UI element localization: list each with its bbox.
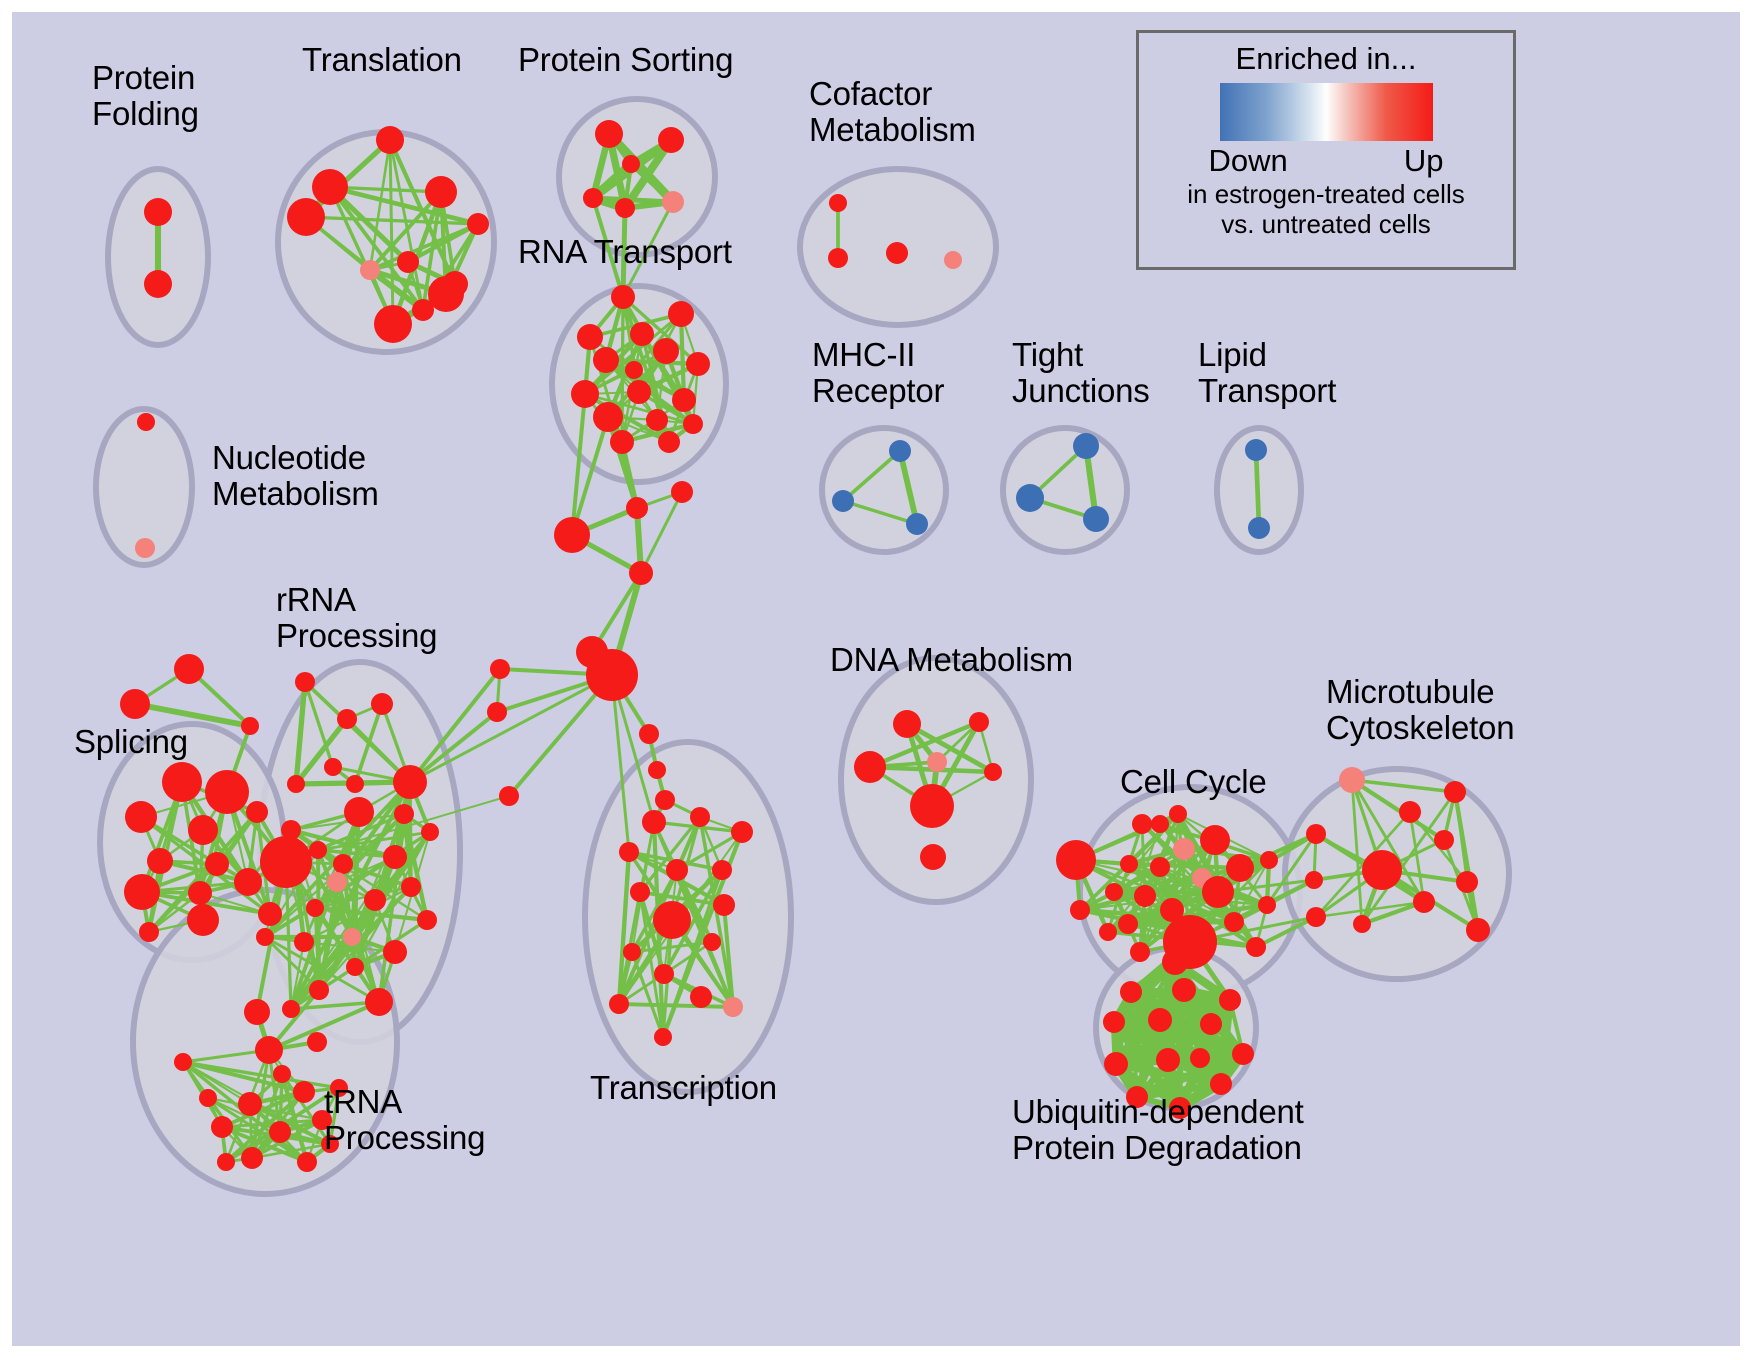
- network-node[interactable]: [653, 338, 679, 364]
- network-node[interactable]: [615, 198, 635, 218]
- network-node[interactable]: [653, 901, 691, 939]
- legend-title: Enriched in...: [1236, 41, 1417, 77]
- network-node[interactable]: [294, 932, 314, 952]
- figure-root: Protein FoldingTranslationProtein Sortin…: [0, 0, 1750, 1360]
- legend-endpoints: Down Up: [1209, 143, 1444, 179]
- network-node[interactable]: [1248, 517, 1270, 539]
- network-node[interactable]: [690, 986, 712, 1008]
- network-node[interactable]: [571, 380, 599, 408]
- legend-subtitle-line-1: in estrogen-treated cells: [1187, 180, 1464, 209]
- network-node[interactable]: [1150, 857, 1170, 877]
- network-node[interactable]: [467, 213, 489, 235]
- network-node[interactable]: [686, 352, 710, 376]
- network-node[interactable]: [333, 854, 353, 874]
- network-node[interactable]: [828, 248, 848, 268]
- network-node[interactable]: [205, 852, 229, 876]
- network-node[interactable]: [623, 943, 641, 961]
- network-node[interactable]: [273, 1065, 291, 1083]
- network-node[interactable]: [1118, 914, 1138, 934]
- network-canvas: Protein FoldingTranslationProtein Sortin…: [12, 12, 1740, 1346]
- network-edge: [410, 675, 612, 782]
- network-node[interactable]: [1162, 949, 1188, 975]
- network-node[interactable]: [889, 440, 911, 462]
- network-node[interactable]: [1245, 439, 1267, 461]
- network-node[interactable]: [832, 490, 854, 512]
- network-node[interactable]: [1202, 876, 1234, 908]
- network-node[interactable]: [1148, 1008, 1172, 1032]
- network-node[interactable]: [137, 413, 155, 431]
- network-node[interactable]: [327, 872, 347, 892]
- network-node[interactable]: [383, 845, 407, 869]
- network-node[interactable]: [255, 1036, 283, 1064]
- network-node[interactable]: [630, 882, 650, 902]
- network-node[interactable]: [1200, 1013, 1222, 1035]
- network-node[interactable]: [1246, 937, 1266, 957]
- network-node[interactable]: [490, 659, 510, 679]
- network-node[interactable]: [577, 324, 603, 350]
- network-node[interactable]: [654, 1028, 672, 1046]
- network-node[interactable]: [1099, 923, 1117, 941]
- cluster-label-nucleotide-metabolism: Nucleotide Metabolism: [212, 440, 379, 513]
- network-node[interactable]: [893, 710, 921, 738]
- network-node[interactable]: [238, 1092, 262, 1116]
- network-node[interactable]: [371, 693, 393, 715]
- legend-subtitle-line-2: vs. untreated cells: [1221, 210, 1431, 239]
- network-node[interactable]: [595, 120, 623, 148]
- cluster-label-rrna-processing: rRNA Processing: [276, 582, 437, 655]
- network-node[interactable]: [312, 169, 348, 205]
- network-node[interactable]: [234, 868, 262, 896]
- network-node[interactable]: [1103, 1011, 1125, 1033]
- network-node[interactable]: [1156, 1048, 1180, 1072]
- network-node[interactable]: [174, 1053, 192, 1071]
- network-node[interactable]: [639, 724, 659, 744]
- network-node[interactable]: [1190, 1048, 1210, 1068]
- network-node[interactable]: [188, 815, 218, 845]
- network-node[interactable]: [1134, 885, 1156, 907]
- network-node[interactable]: [906, 513, 928, 535]
- network-node[interactable]: [144, 198, 172, 226]
- network-node[interactable]: [627, 380, 651, 404]
- network-node[interactable]: [1132, 814, 1152, 834]
- cluster-label-protein-folding: Protein Folding: [92, 60, 199, 133]
- network-node[interactable]: [174, 654, 204, 684]
- network-node[interactable]: [984, 763, 1002, 781]
- network-node[interactable]: [1339, 767, 1365, 793]
- network-node[interactable]: [394, 804, 414, 824]
- cluster-label-rna-transport: RNA Transport: [518, 234, 732, 270]
- network-edge: [1256, 450, 1259, 528]
- network-node[interactable]: [969, 712, 989, 732]
- network-node[interactable]: [920, 844, 946, 870]
- network-node[interactable]: [1399, 801, 1421, 823]
- network-node[interactable]: [487, 702, 507, 722]
- network-node[interactable]: [211, 1116, 233, 1138]
- network-node[interactable]: [282, 1000, 300, 1018]
- network-node[interactable]: [1456, 871, 1478, 893]
- network-node[interactable]: [205, 770, 249, 814]
- network-node[interactable]: [609, 994, 629, 1014]
- network-node[interactable]: [162, 762, 202, 802]
- network-node[interactable]: [360, 260, 380, 280]
- cluster-label-lipid-transport: Lipid Transport: [1198, 337, 1336, 410]
- network-node[interactable]: [662, 191, 684, 213]
- network-node[interactable]: [306, 899, 324, 917]
- network-node[interactable]: [1260, 851, 1278, 869]
- network-node[interactable]: [1083, 506, 1109, 532]
- network-node[interactable]: [1016, 484, 1044, 512]
- cluster-label-mhc-ii-receptor: MHC-II Receptor: [812, 337, 944, 410]
- network-node[interactable]: [246, 801, 268, 823]
- network-node[interactable]: [256, 928, 274, 946]
- network-node[interactable]: [287, 198, 325, 236]
- network-node[interactable]: [1073, 433, 1099, 459]
- network-node[interactable]: [586, 649, 638, 701]
- network-node[interactable]: [343, 928, 361, 946]
- network-node[interactable]: [668, 301, 694, 327]
- network-node[interactable]: [428, 276, 464, 312]
- network-node[interactable]: [593, 347, 619, 373]
- network-node[interactable]: [683, 414, 703, 434]
- cluster-ellipse-protein-sorting[interactable]: [559, 99, 715, 255]
- cluster-label-translation: Translation: [302, 42, 462, 78]
- network-node[interactable]: [269, 1121, 291, 1143]
- network-node[interactable]: [125, 801, 157, 833]
- network-node[interactable]: [654, 964, 674, 984]
- network-node[interactable]: [910, 784, 954, 828]
- network-node[interactable]: [927, 752, 947, 772]
- network-node[interactable]: [1306, 824, 1326, 844]
- network-node[interactable]: [393, 765, 427, 799]
- network-node[interactable]: [731, 821, 753, 843]
- network-node[interactable]: [1444, 781, 1466, 803]
- network-node[interactable]: [1219, 989, 1241, 1011]
- network-node[interactable]: [499, 786, 519, 806]
- network-node[interactable]: [124, 874, 160, 910]
- network-node[interactable]: [610, 430, 634, 454]
- network-node[interactable]: [854, 751, 886, 783]
- network-node[interactable]: [293, 1081, 315, 1103]
- network-node[interactable]: [658, 431, 680, 453]
- network-node[interactable]: [307, 1032, 327, 1052]
- cluster-label-trna-processing: tRNA Processing: [324, 1084, 485, 1157]
- cluster-ellipse-mhc-ii-receptor[interactable]: [822, 428, 946, 552]
- network-node[interactable]: [1210, 1073, 1232, 1095]
- legend-high-label: Up: [1404, 143, 1444, 179]
- network-node[interactable]: [139, 922, 159, 942]
- cluster-label-tight-junctions: Tight Junctions: [1012, 337, 1150, 410]
- network-node[interactable]: [217, 1153, 235, 1171]
- network-node[interactable]: [258, 902, 282, 926]
- network-node[interactable]: [1130, 942, 1150, 962]
- network-node[interactable]: [593, 402, 623, 432]
- network-node[interactable]: [383, 940, 407, 964]
- network-node[interactable]: [666, 859, 688, 881]
- network-node[interactable]: [199, 1089, 217, 1107]
- network-node[interactable]: [723, 997, 743, 1017]
- cluster-label-protein-sorting: Protein Sorting: [518, 42, 733, 78]
- legend-low-label: Down: [1209, 143, 1288, 179]
- network-node[interactable]: [374, 305, 412, 343]
- network-node[interactable]: [629, 561, 653, 585]
- cluster-label-splicing: Splicing: [74, 724, 188, 760]
- network-node[interactable]: [421, 823, 439, 841]
- network-node[interactable]: [713, 894, 735, 916]
- network-node[interactable]: [241, 717, 259, 735]
- cluster-label-dna-metabolism: DNA Metabolism: [830, 642, 1073, 678]
- network-node[interactable]: [658, 127, 684, 153]
- network-node[interactable]: [260, 836, 312, 888]
- network-node[interactable]: [1105, 883, 1123, 901]
- network-node[interactable]: [346, 958, 364, 976]
- network-node[interactable]: [144, 270, 172, 298]
- network-node[interactable]: [365, 988, 393, 1016]
- network-node[interactable]: [1353, 915, 1371, 933]
- network-node[interactable]: [1120, 855, 1138, 873]
- network-node[interactable]: [672, 388, 696, 412]
- network-node[interactable]: [1224, 912, 1244, 932]
- network-node[interactable]: [297, 1152, 317, 1172]
- network-node[interactable]: [1305, 871, 1323, 889]
- network-node[interactable]: [346, 775, 364, 793]
- network-node[interactable]: [135, 538, 155, 558]
- network-node[interactable]: [625, 361, 643, 379]
- network-node[interactable]: [1169, 805, 1187, 823]
- network-node[interactable]: [1258, 896, 1276, 914]
- network-node[interactable]: [626, 497, 648, 519]
- network-node[interactable]: [425, 176, 457, 208]
- network-node[interactable]: [1226, 854, 1254, 882]
- network-node[interactable]: [1172, 978, 1196, 1002]
- network-node[interactable]: [401, 877, 421, 897]
- network-node[interactable]: [417, 910, 437, 930]
- cluster-label-microtubule-cytoskeleton: Microtubule Cytoskeleton: [1326, 674, 1514, 747]
- network-node[interactable]: [671, 481, 693, 503]
- network-node[interactable]: [944, 251, 962, 269]
- network-node[interactable]: [1070, 900, 1090, 920]
- network-node[interactable]: [646, 409, 668, 431]
- network-node[interactable]: [376, 126, 404, 154]
- network-node[interactable]: [1173, 838, 1195, 860]
- network-node[interactable]: [611, 285, 635, 309]
- cluster-label-cofactor-metabolism: Cofactor Metabolism: [809, 76, 976, 149]
- legend-color-gradient-bar: [1220, 83, 1433, 141]
- network-node[interactable]: [287, 775, 305, 793]
- network-node[interactable]: [642, 810, 666, 834]
- cluster-label-cell-cycle: Cell Cycle: [1120, 764, 1267, 800]
- network-node[interactable]: [1434, 830, 1454, 850]
- network-node[interactable]: [655, 790, 675, 810]
- network-node[interactable]: [1466, 918, 1490, 942]
- network-node[interactable]: [324, 758, 342, 776]
- network-node[interactable]: [1200, 825, 1230, 855]
- network-node[interactable]: [1232, 1043, 1254, 1065]
- network-node[interactable]: [397, 251, 419, 273]
- network-node[interactable]: [344, 797, 374, 827]
- network-node[interactable]: [1120, 981, 1142, 1003]
- network-node[interactable]: [187, 904, 219, 936]
- network-node[interactable]: [648, 761, 666, 779]
- network-node[interactable]: [295, 672, 315, 692]
- network-node[interactable]: [120, 689, 150, 719]
- network-node[interactable]: [583, 188, 603, 208]
- network-node[interactable]: [630, 322, 654, 346]
- legend-panel: Enriched in... Down Up in estrogen-treat…: [1136, 30, 1516, 270]
- network-node[interactable]: [712, 860, 732, 880]
- network-node[interactable]: [309, 841, 327, 859]
- network-node[interactable]: [309, 980, 329, 1000]
- network-node[interactable]: [1104, 1052, 1128, 1076]
- network-node[interactable]: [244, 999, 270, 1025]
- network-node[interactable]: [619, 842, 639, 862]
- network-node[interactable]: [886, 242, 908, 264]
- network-node[interactable]: [1362, 850, 1402, 890]
- network-node[interactable]: [1413, 891, 1435, 913]
- network-node[interactable]: [690, 807, 710, 827]
- network-node[interactable]: [1056, 840, 1096, 880]
- network-node[interactable]: [1306, 907, 1326, 927]
- network-node[interactable]: [622, 155, 640, 173]
- network-node[interactable]: [364, 889, 386, 911]
- network-node[interactable]: [188, 881, 212, 905]
- network-node[interactable]: [241, 1147, 263, 1169]
- network-node[interactable]: [1151, 815, 1169, 833]
- network-node[interactable]: [147, 848, 173, 874]
- network-node[interactable]: [337, 709, 357, 729]
- network-node[interactable]: [703, 933, 721, 951]
- network-node[interactable]: [829, 194, 847, 212]
- cluster-label-ubiquitin-protein-degradation: Ubiquitin-dependent Protein Degradation: [1012, 1094, 1304, 1167]
- network-node[interactable]: [554, 517, 590, 553]
- cluster-label-transcription: Transcription: [590, 1070, 777, 1106]
